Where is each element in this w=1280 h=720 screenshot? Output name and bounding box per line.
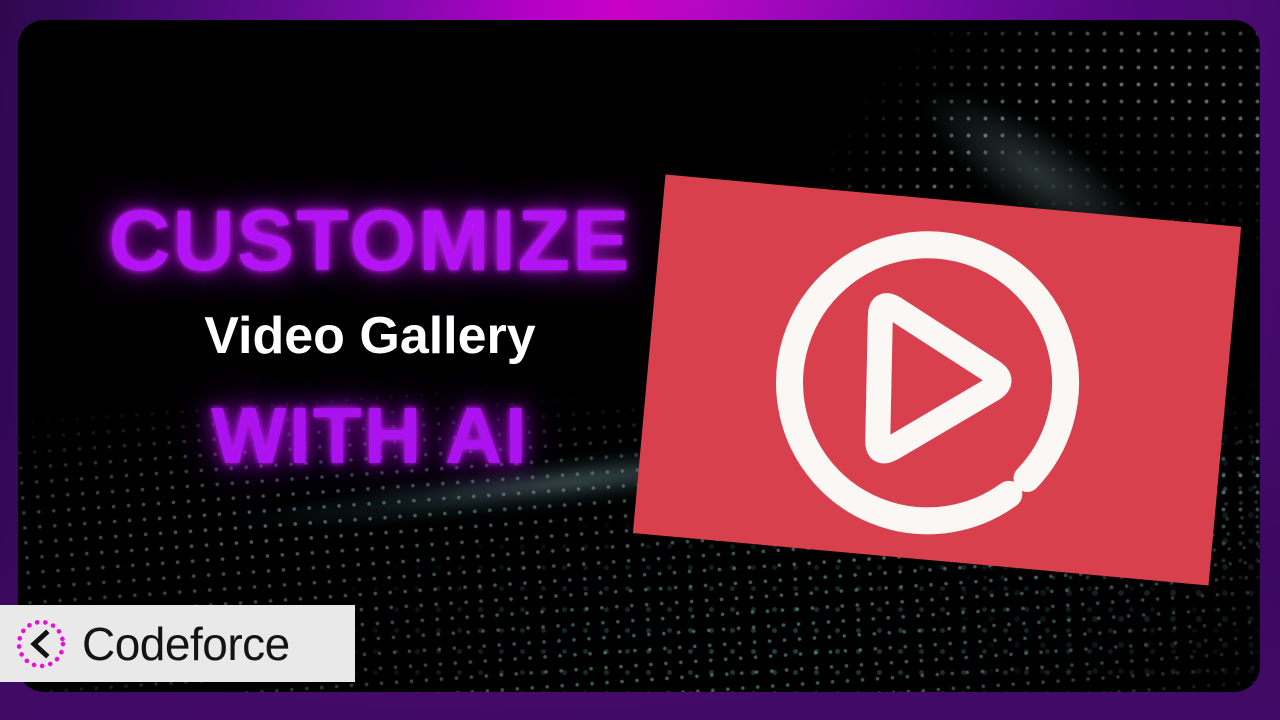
video-canvas[interactable]: CUSTOMIZE Video Gallery WITH AI [18, 20, 1260, 692]
dotted-ring [19, 622, 63, 666]
play-circle-arc [783, 238, 1072, 527]
headline-primary: CUSTOMIZE [60, 198, 680, 284]
channel-badge[interactable]: Codeforce [0, 605, 355, 682]
headline-block: CUSTOMIZE Video Gallery WITH AI [60, 198, 680, 476]
play-circle-icon[interactable] [746, 197, 1111, 562]
headline-secondary: Video Gallery [60, 310, 680, 362]
channel-badge-name: Codeforce [82, 621, 290, 667]
headline-tertiary: WITH AI [60, 396, 680, 476]
video-card[interactable] [633, 175, 1241, 586]
play-triangle-glyph [878, 306, 1001, 454]
chevron-left-dotted-circle-icon [14, 617, 68, 671]
chevron-left-glyph [34, 633, 46, 655]
thumbnail-frame: CUSTOMIZE Video Gallery WITH AI Codeforc… [0, 0, 1280, 720]
